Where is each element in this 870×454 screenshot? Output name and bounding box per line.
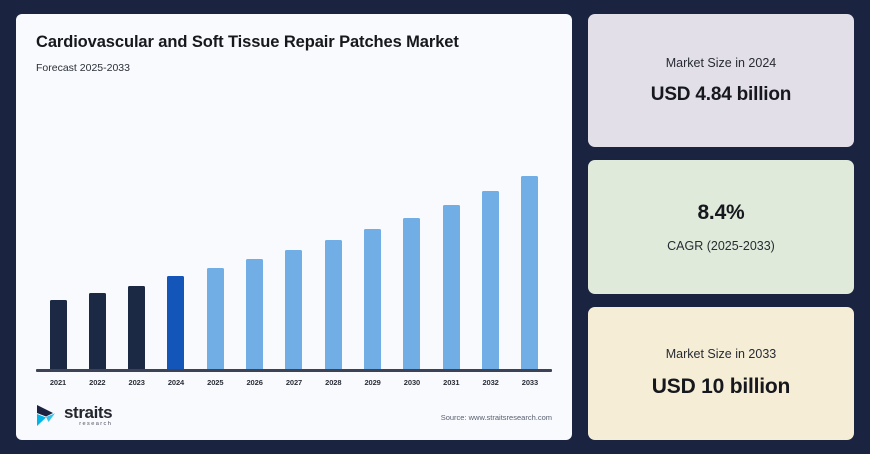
chart-bar	[403, 218, 420, 369]
logo-subtitle: research	[64, 422, 112, 428]
straits-research-logo: straits research	[36, 403, 112, 428]
chart-bar	[364, 229, 381, 369]
logo-name: straits	[64, 404, 112, 421]
page-title: Cardiovascular and Soft Tissue Repair Pa…	[36, 32, 486, 53]
bar-slot	[355, 161, 391, 369]
infographic-root: Cardiovascular and Soft Tissue Repair Pa…	[0, 0, 870, 454]
bar-slot	[315, 161, 351, 369]
bar-slot	[197, 161, 233, 369]
x-axis-line	[36, 369, 552, 372]
chart-bar	[128, 286, 145, 369]
chart-bar	[89, 293, 106, 369]
source-attribution: Source: www.straitsresearch.com	[441, 413, 552, 428]
bar-slot	[158, 161, 194, 369]
bar-slot	[394, 161, 430, 369]
bar-slot	[276, 161, 312, 369]
chart-bar	[285, 250, 302, 369]
metric-card-value: USD 10 billion	[652, 375, 790, 399]
chart-bar	[443, 205, 460, 369]
bar-slot	[237, 161, 273, 369]
bar-chart: 2021202220232024202520262027202820292030…	[36, 84, 552, 387]
x-axis-tick-label: 2031	[433, 378, 469, 387]
bar-slot	[119, 161, 155, 369]
x-axis-tick-label: 2021	[40, 378, 76, 387]
x-axis-tick-label: 2022	[79, 378, 115, 387]
chevron-logo-icon	[36, 403, 59, 428]
x-axis-tick-label: 2030	[394, 378, 430, 387]
x-axis-tick-label: 2029	[355, 378, 391, 387]
metric-card-cagr: 8.4%CAGR (2025-2033)	[588, 160, 854, 293]
chart-bar	[482, 191, 499, 369]
metric-card-label: Market Size in 2024	[666, 56, 776, 70]
x-axis-tick-label: 2033	[512, 378, 548, 387]
chart-bar	[325, 240, 342, 369]
chart-bar	[521, 176, 538, 369]
x-axis-tick-label: 2024	[158, 378, 194, 387]
bar-slot	[79, 161, 115, 369]
metric-card-market-size-2024: Market Size in 2024USD 4.84 billion	[588, 14, 854, 147]
bar-slot	[512, 161, 548, 369]
chart-bar	[167, 276, 184, 369]
logo-wordmark: straits research	[64, 404, 112, 428]
bar-slot	[433, 161, 469, 369]
chart-subtitle: Forecast 2025-2033	[36, 62, 552, 74]
chart-footer: straits research Source: www.straitsrese…	[36, 403, 552, 428]
metric-card-value: USD 4.84 billion	[651, 84, 791, 106]
bar-series	[36, 161, 552, 369]
chart-bar	[207, 268, 224, 369]
metric-cards: Market Size in 2024USD 4.84 billion8.4%C…	[588, 14, 854, 440]
x-axis-tick-label: 2023	[119, 378, 155, 387]
x-axis-labels: 2021202220232024202520262027202820292030…	[36, 378, 552, 387]
metric-card-market-size-2033: Market Size in 2033USD 10 billion	[588, 307, 854, 440]
chart-panel: Cardiovascular and Soft Tissue Repair Pa…	[16, 14, 572, 440]
bar-slot	[40, 161, 76, 369]
x-axis-tick-label: 2032	[473, 378, 509, 387]
chart-bar	[50, 300, 67, 369]
chart-bar	[246, 259, 263, 369]
x-axis-tick-label: 2027	[276, 378, 312, 387]
metric-card-label: Market Size in 2033	[666, 347, 776, 361]
bar-slot	[473, 161, 509, 369]
x-axis-tick-label: 2026	[237, 378, 273, 387]
x-axis-tick-label: 2025	[197, 378, 233, 387]
metric-card-label: CAGR (2025-2033)	[667, 239, 775, 253]
x-axis-tick-label: 2028	[315, 378, 351, 387]
metric-card-value: 8.4%	[697, 201, 744, 225]
